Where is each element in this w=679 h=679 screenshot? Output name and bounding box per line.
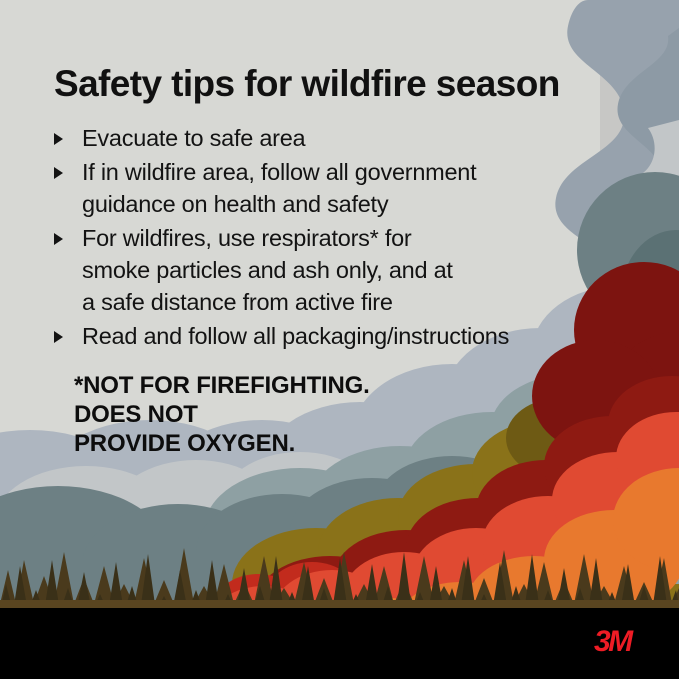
- wildfire-safety-poster: Safety tips for wildfire season Evacuate…: [0, 0, 679, 679]
- triangle-bullet-icon: [54, 133, 63, 145]
- poster-content: Safety tips for wildfire season Evacuate…: [0, 0, 679, 679]
- list-item-label: Read and follow all packaging/instructio…: [82, 320, 612, 352]
- safety-tips-list: Evacuate to safe area If in wildfire are…: [52, 122, 612, 354]
- list-item-label: Evacuate to safe area: [82, 122, 612, 154]
- page-title: Safety tips for wildfire season: [54, 63, 560, 105]
- disclaimer-text: *NOT FOR FIREFIGHTING. DOES NOT PROVIDE …: [74, 371, 370, 458]
- list-item-label: If in wildfire area, follow all governme…: [82, 156, 612, 220]
- triangle-bullet-icon: [54, 331, 63, 343]
- list-item: For wildfires, use respirators* for smok…: [52, 222, 612, 318]
- triangle-bullet-icon: [54, 167, 63, 179]
- 3m-logo: 3M: [594, 627, 631, 657]
- list-item: If in wildfire area, follow all governme…: [52, 156, 612, 220]
- list-item: Read and follow all packaging/instructio…: [52, 320, 612, 352]
- triangle-bullet-icon: [54, 233, 63, 245]
- list-item: Evacuate to safe area: [52, 122, 612, 154]
- list-item-label: For wildfires, use respirators* for smok…: [82, 222, 612, 318]
